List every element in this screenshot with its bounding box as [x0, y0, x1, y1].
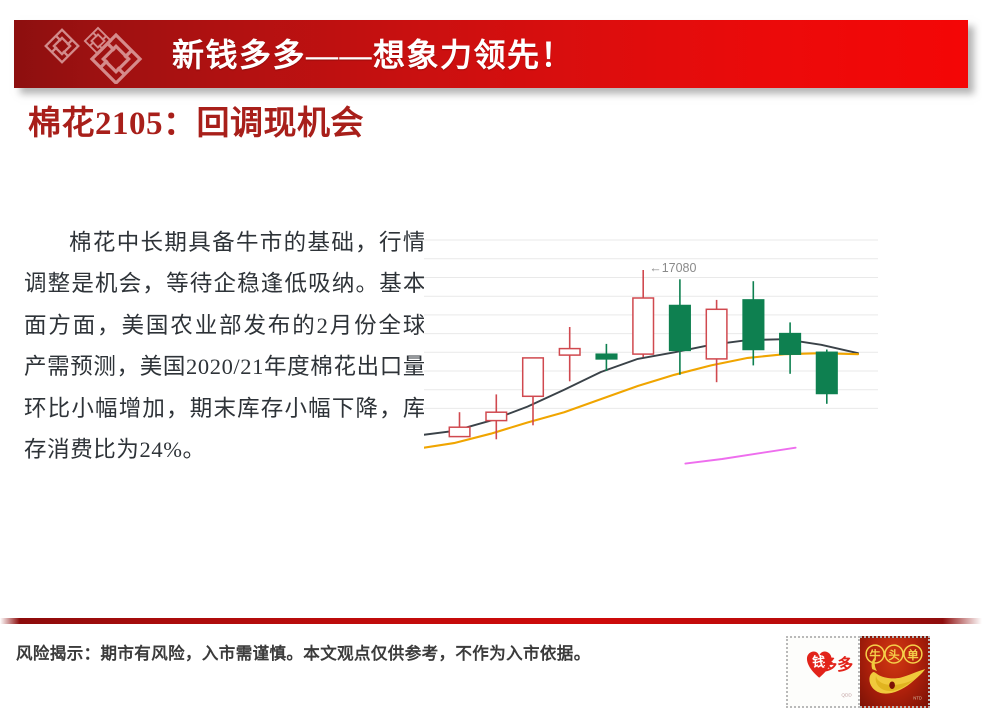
footer-divider	[0, 618, 982, 624]
candle-body	[670, 306, 691, 351]
chart-svg: ←17080	[424, 218, 936, 508]
candle-body	[633, 298, 654, 354]
candle-body	[780, 334, 801, 355]
candle-2	[523, 358, 544, 425]
candle-5	[633, 270, 654, 357]
stamp-left-text: 多多	[821, 655, 853, 674]
candle-body	[523, 358, 544, 396]
candle-9	[780, 322, 801, 373]
risk-disclaimer: 风险揭示：期市有风险，入市需谨慎。本文观点仅供参考，不作为入市依据。	[16, 640, 591, 664]
diamond-maze-logo-icon	[36, 26, 156, 84]
candle-7	[706, 300, 727, 382]
header-banner: 新钱多多——想象力领先！	[14, 20, 968, 88]
svg-text:NTD: NTD	[913, 695, 922, 700]
page-title: 棉花2105：回调现机会	[28, 100, 418, 149]
niutoudan-stamp-art: 牛 头 单 NTD	[860, 638, 928, 706]
candle-body	[706, 309, 727, 359]
presentation-slide: 新钱多多——想象力领先！ 棉花2105：回调现机会 棉花中长期具备牛市的基础，行…	[0, 0, 982, 720]
price-annotation-0: ←17080	[649, 261, 696, 275]
candle-0	[449, 412, 470, 436]
candle-6	[670, 279, 691, 375]
candle-body	[743, 300, 764, 350]
candle-body	[559, 349, 580, 356]
candle-1	[486, 394, 507, 439]
stamp-char-2: 头	[888, 648, 899, 662]
candle-3	[559, 327, 580, 381]
footer-stamps: 钱 多多 QDD 牛 头 单	[786, 636, 930, 708]
stamp-char-3: 单	[907, 648, 918, 662]
candle-10	[817, 350, 838, 404]
body-paragraph: 棉花中长期具备牛市的基础，行情调整是机会，等待企稳逢低吸纳。基本面方面，美国农业…	[24, 222, 426, 470]
candlestick-chart: ←17080	[424, 218, 936, 508]
candle-body	[486, 412, 507, 420]
ma-mid-line	[424, 353, 858, 449]
qianduoduo-stamp-art: 钱 多多 QDD	[788, 638, 858, 706]
candle-body	[596, 354, 617, 359]
candle-body	[449, 427, 470, 436]
candle-body	[817, 352, 838, 393]
ma-long-line	[685, 448, 795, 464]
svg-text:QDD: QDD	[841, 693, 852, 699]
qianduoduo-stamp: 钱 多多 QDD	[786, 636, 860, 708]
niutoudan-stamp: 牛 头 单 NTD	[860, 636, 930, 708]
header-title: 新钱多多——想象力领先！	[172, 30, 574, 76]
